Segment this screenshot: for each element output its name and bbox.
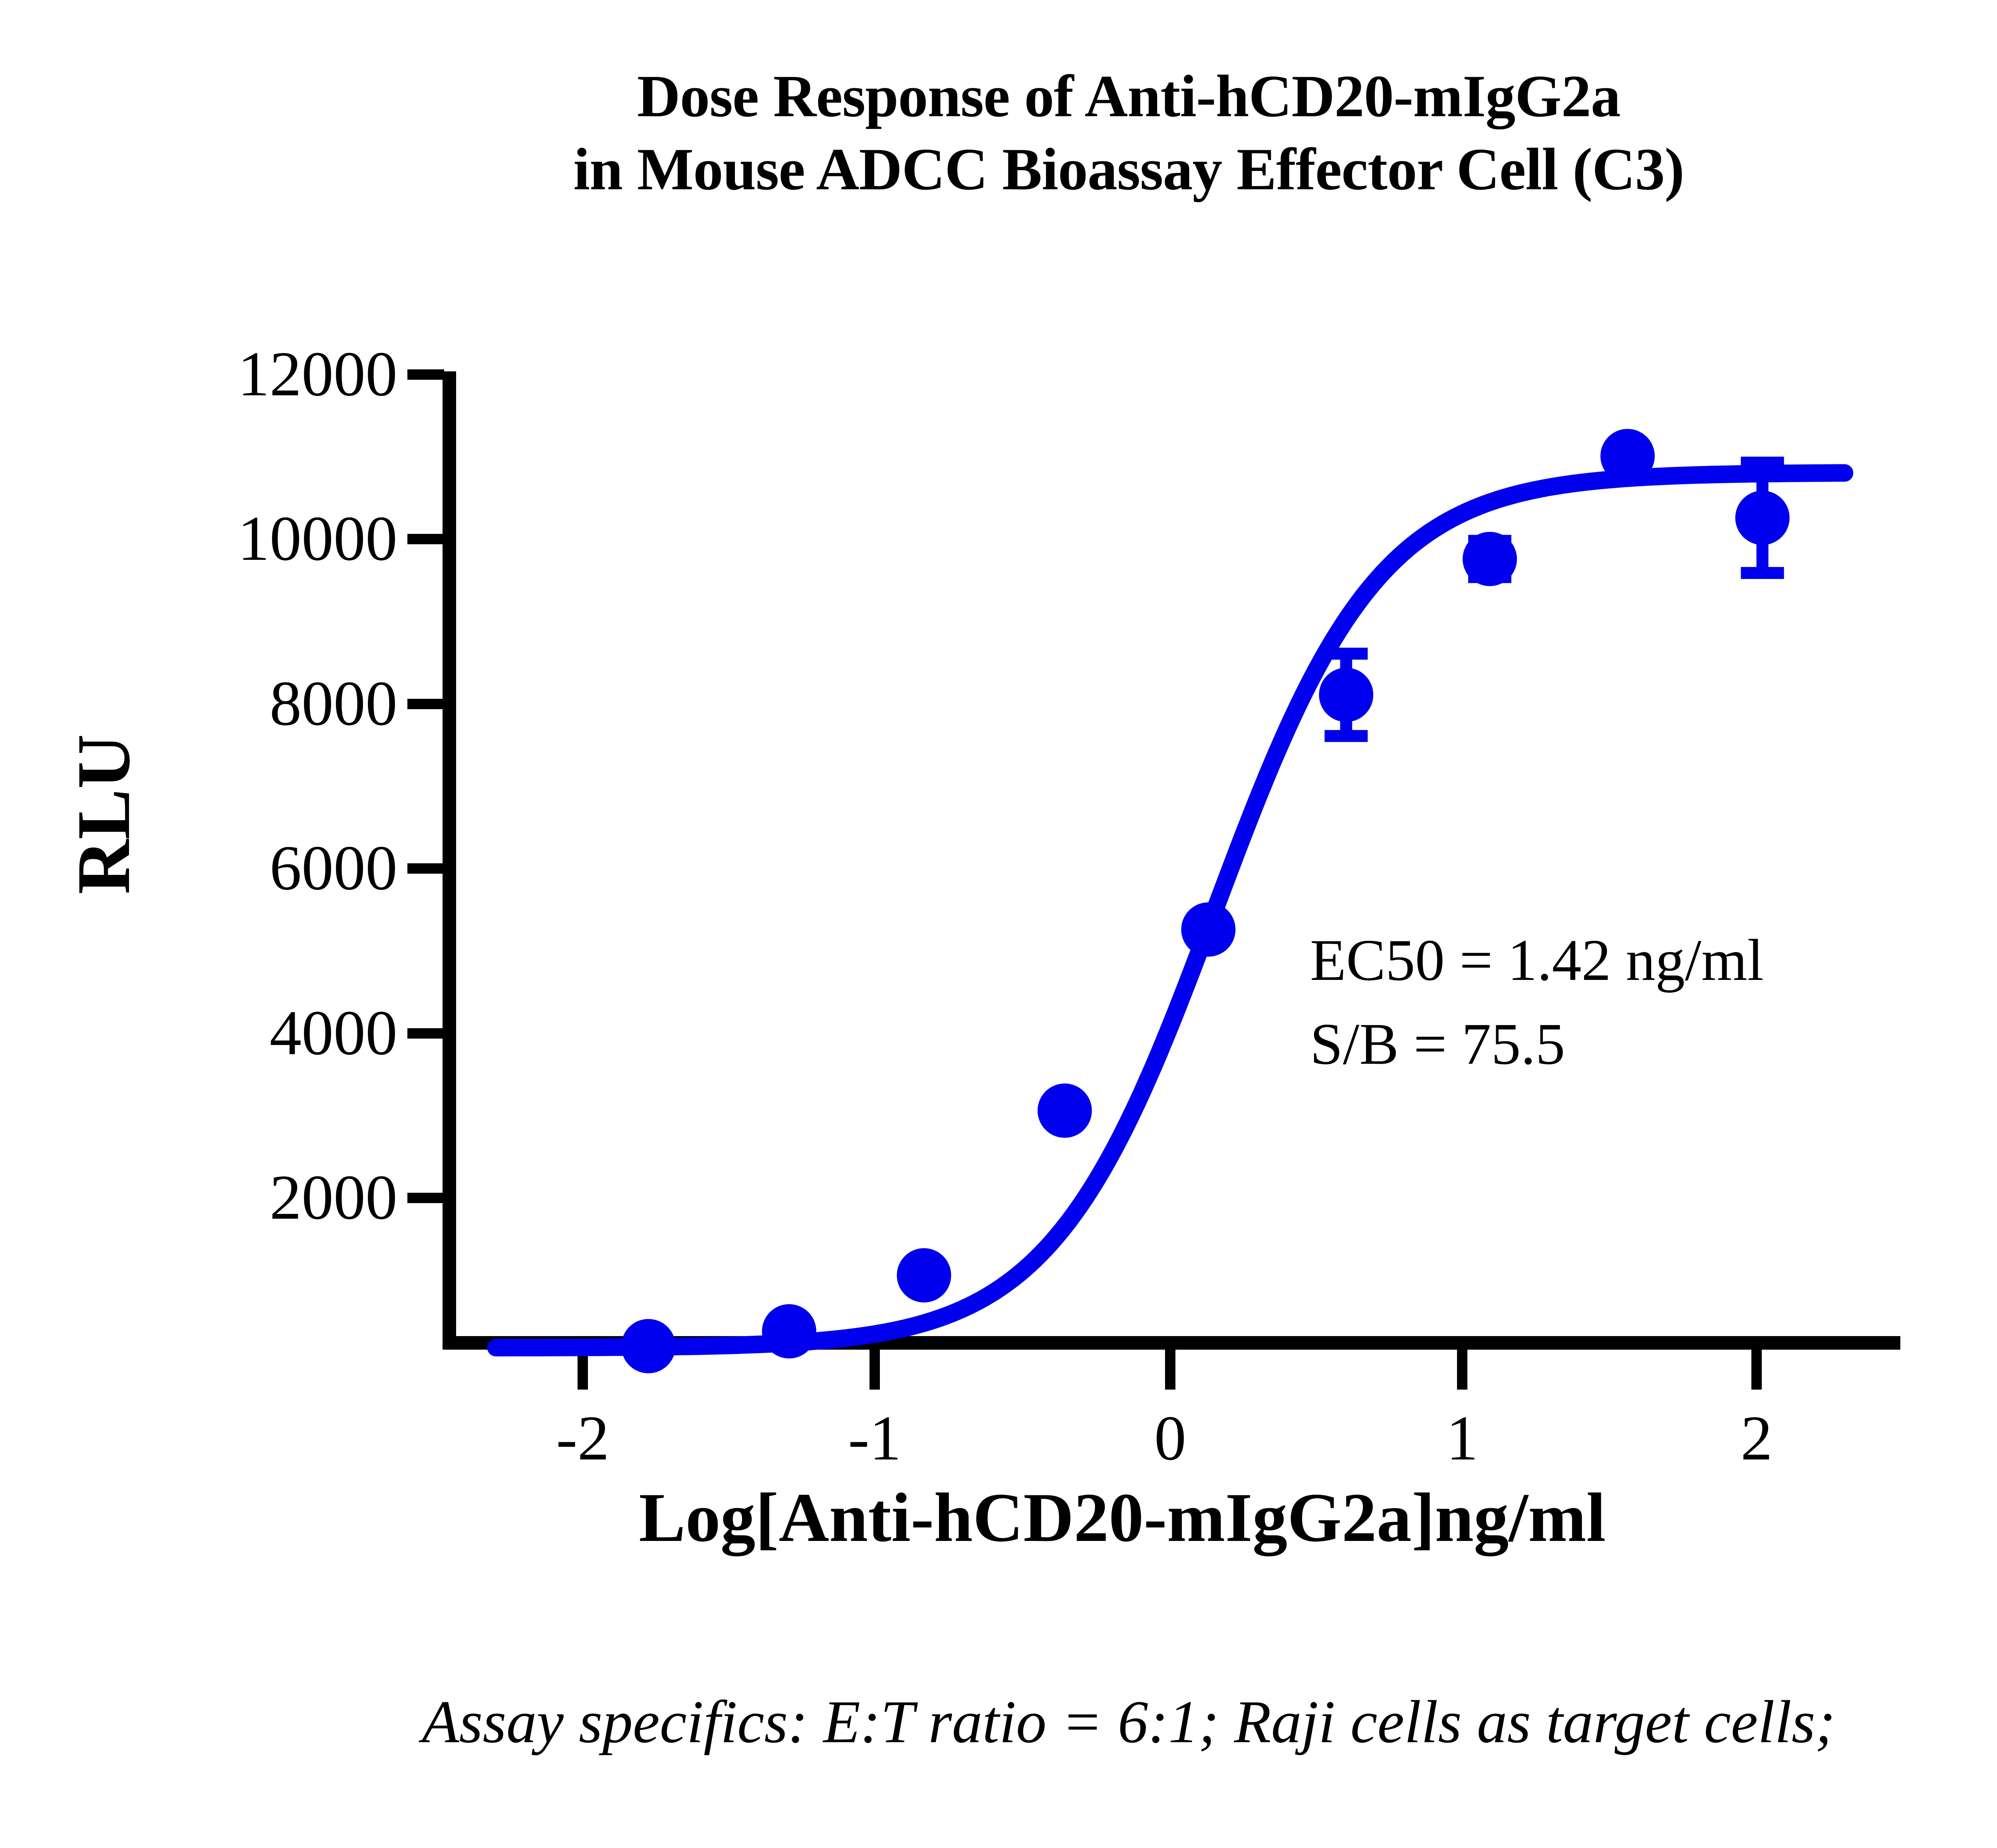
- y-tick-labels: 12000 10000 8000 6000 4000 2000: [238, 338, 397, 1233]
- y-tick-label-10000: 10000: [238, 503, 397, 574]
- y-tick-2000: [407, 1193, 444, 1203]
- x-tick-0: [1165, 1350, 1175, 1390]
- ec50-annotation: EC50 = 1.42 ng/ml: [1310, 918, 1764, 1002]
- data-points: [621, 429, 1789, 1373]
- x-axis-ticks: [578, 1350, 1762, 1390]
- data-point-marker: [1038, 1083, 1092, 1138]
- data-point-marker: [762, 1304, 816, 1358]
- x-tick-label-0: 0: [1154, 1402, 1186, 1473]
- y-tick-12000: [407, 369, 444, 380]
- y-tick-6000: [407, 863, 444, 874]
- fit-annotations: EC50 = 1.42 ng/ml S/B = 75.5: [1310, 918, 1764, 1086]
- error-bar-cap-lower: [1741, 567, 1784, 579]
- x-tick-neg1: [869, 1350, 880, 1390]
- x-tick-2: [1751, 1350, 1762, 1390]
- data-point-marker: [1735, 491, 1790, 545]
- x-tick-label-neg2: -2: [556, 1402, 609, 1473]
- y-tick-label-12000: 12000: [238, 338, 397, 409]
- error-bar-cap-upper: [1741, 457, 1784, 469]
- y-tick-4000: [407, 1028, 444, 1039]
- y-axis-label: RLU: [60, 674, 147, 954]
- error-bars: [1324, 457, 1784, 742]
- error-bar-cap-upper: [1324, 648, 1368, 660]
- assay-caption: Assay specifics: E:T ratio = 6:1; Raji c…: [0, 1687, 1997, 1757]
- y-tick-label-6000: 6000: [270, 832, 397, 903]
- x-tick-label-1: 1: [1446, 1402, 1478, 1473]
- sb-annotation: S/B = 75.5: [1310, 1002, 1764, 1086]
- fit-curve: [496, 473, 1844, 1348]
- data-point-marker: [621, 1319, 675, 1373]
- y-axis-spine: [443, 371, 456, 1350]
- y-tick-8000: [407, 699, 444, 709]
- data-point-marker: [1181, 902, 1235, 957]
- y-tick-10000: [407, 534, 444, 544]
- data-point-marker: [1600, 429, 1655, 483]
- chart-page: Dose Response of Anti-hCD20-mIgG2a in Mo…: [0, 0, 1997, 1848]
- plot-area: 12000 10000 8000 6000 4000 2000 -2 -1 0 …: [0, 0, 1997, 1848]
- data-point-marker: [897, 1248, 951, 1303]
- y-tick-label-8000: 8000: [270, 668, 397, 739]
- x-tick-label-neg1: -1: [848, 1402, 901, 1473]
- x-tick-label-2: 2: [1741, 1402, 1773, 1473]
- x-axis-label: Log[Anti-hCD20-mIgG2a]ng/ml: [304, 1477, 1941, 1558]
- error-bar-cap-lower: [1324, 730, 1368, 742]
- x-tick-labels: -2 -1 0 1 2: [556, 1402, 1773, 1473]
- x-tick-1: [1457, 1350, 1467, 1390]
- data-point-marker: [1319, 668, 1373, 722]
- y-tick-label-2000: 2000: [270, 1162, 397, 1233]
- y-tick-label-4000: 4000: [270, 997, 397, 1068]
- data-point-marker: [1463, 532, 1517, 586]
- y-axis-ticks: [407, 369, 444, 1203]
